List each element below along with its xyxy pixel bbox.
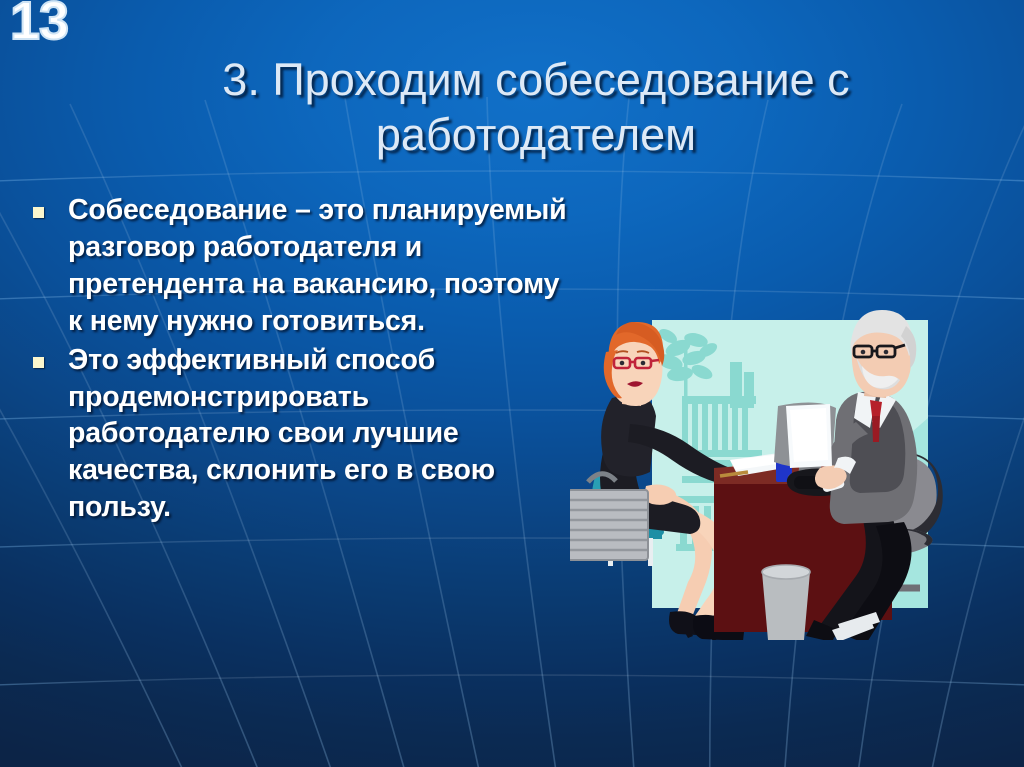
presentation-slide: 13 3. Проходим собеседование с работодат… <box>0 0 1024 767</box>
slide-number-badge: 13 <box>10 0 68 48</box>
list-item-text: Это эффективный способ продемонстрироват… <box>68 344 495 524</box>
square-bullet-icon <box>33 207 44 218</box>
trash-bin <box>762 565 810 640</box>
list-item-text: Собеседование – это планируемый разговор… <box>68 194 566 337</box>
list-item: Собеседование – это планируемый разговор… <box>16 192 576 340</box>
job-interview-illustration <box>570 300 1024 640</box>
bullet-list: Собеседование – это планируемый разговор… <box>16 192 576 528</box>
list-item: Это эффективный способ продемонстрироват… <box>16 342 576 527</box>
page-title: 3. Проходим собеседование с работодателе… <box>112 52 960 163</box>
square-bullet-icon <box>33 357 44 368</box>
